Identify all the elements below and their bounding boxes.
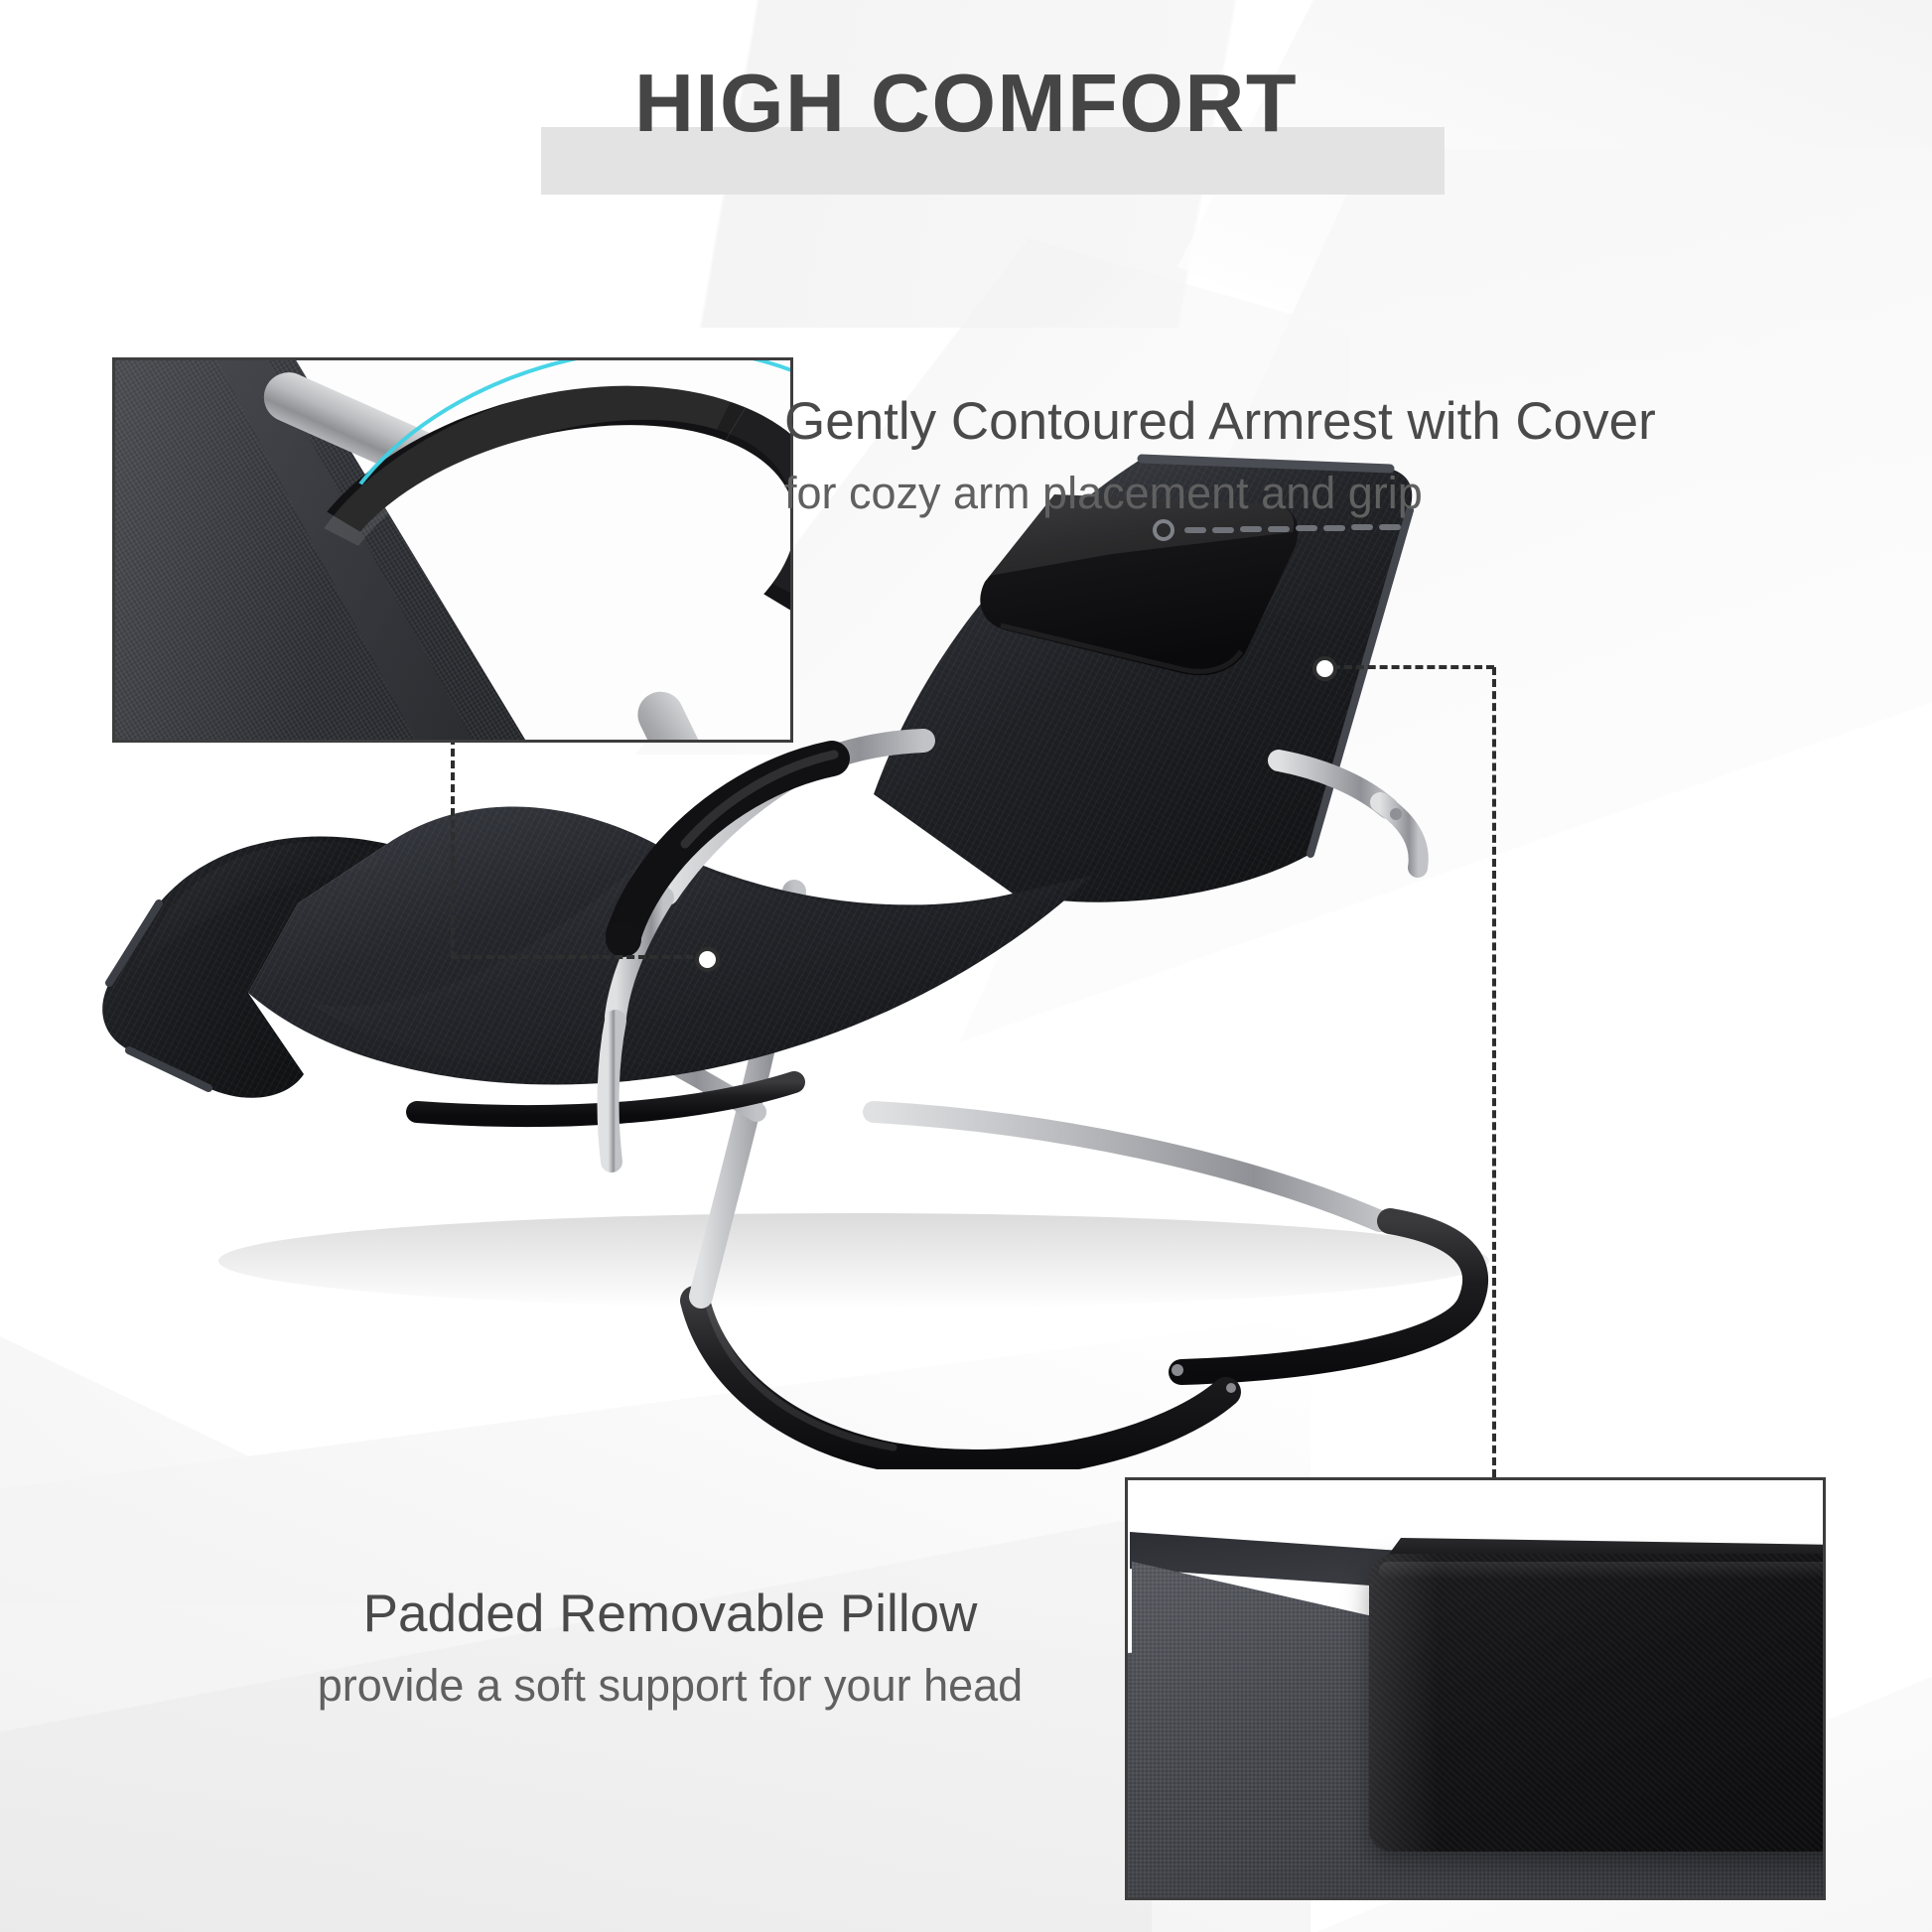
callout-pillow-subheading: provide a soft support for your head <box>253 1659 1087 1713</box>
background-facet-topleft <box>0 0 556 298</box>
callout-pillow-heading: Padded Removable Pillow <box>253 1585 1087 1643</box>
pillow-detail-inset <box>1125 1477 1826 1900</box>
callout-pillow: Padded Removable Pillow provide a soft s… <box>253 1585 1087 1713</box>
page-title: HIGH COMFORT <box>0 62 1932 144</box>
pillow-marker <box>1312 656 1337 681</box>
callout-armrest-subheading: for cozy arm placement and grip <box>784 467 1656 520</box>
armrest-detail-inset <box>112 357 793 743</box>
infographic-page: HIGH COMFORT <box>0 0 1932 1932</box>
armrest-marker <box>695 947 720 972</box>
armrest-closeup-photo <box>115 360 790 740</box>
callout-armrest-heading: Gently Contoured Armrest with Cover <box>784 392 1656 451</box>
callout-armrest: Gently Contoured Armrest with Cover for … <box>784 392 1656 520</box>
pillow-inset-pillow-body <box>1369 1554 1826 1852</box>
pillow-closeup-photo <box>1128 1480 1823 1897</box>
background-facet-bottomwedge <box>0 1515 1152 1932</box>
